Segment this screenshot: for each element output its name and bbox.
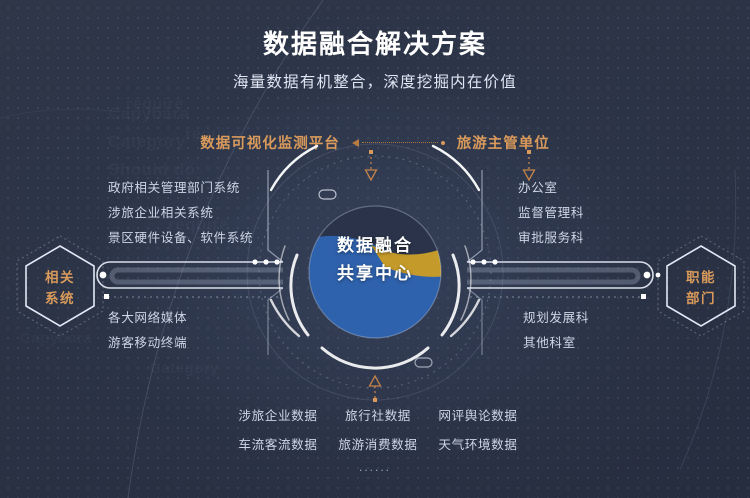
center-node-label: 数据融合 共享中心 bbox=[275, 231, 475, 284]
list-item[interactable]: 旅行社数据 bbox=[328, 404, 428, 428]
hexagon-related-systems[interactable]: 相关 系统 bbox=[14, 234, 106, 338]
list-item[interactable]: 车流客流数据 bbox=[228, 433, 328, 457]
list-item[interactable]: 审批服务科 bbox=[518, 226, 584, 251]
diagram-canvas: require require Capybara Category Should… bbox=[0, 0, 750, 498]
right-top-department-list: 办公室 监督管理科 审批服务科 bbox=[518, 176, 584, 251]
center-line1: 数据融合 bbox=[275, 231, 475, 256]
center-line2: 共享中心 bbox=[275, 259, 475, 284]
list-item[interactable]: 网评舆论数据 bbox=[428, 404, 528, 428]
hexagon-right-line1: 职能 bbox=[686, 266, 716, 286]
hexagon-right-label: 职能 部门 bbox=[655, 234, 747, 338]
right-bottom-department-list: 规划发展科 其他科室 bbox=[523, 306, 589, 356]
list-item[interactable]: 办公室 bbox=[518, 176, 584, 201]
hexagon-left-label: 相关 系统 bbox=[14, 234, 106, 338]
list-item[interactable]: 涉旅企业相关系统 bbox=[108, 201, 253, 226]
list-item[interactable]: 各大网络媒体 bbox=[108, 306, 187, 331]
list-item[interactable]: 游客移动终端 bbox=[108, 331, 187, 356]
list-item[interactable]: 天气环境数据 bbox=[428, 433, 528, 457]
hexagon-right-line2: 部门 bbox=[686, 287, 716, 307]
hexagon-left-line1: 相关 bbox=[45, 266, 75, 286]
bottom-ellipsis: ...... bbox=[0, 460, 750, 474]
list-item[interactable]: 其他科室 bbox=[523, 331, 589, 356]
center-node-data-fusion[interactable]: 数据融合 共享中心 bbox=[275, 165, 475, 380]
list-item[interactable]: 规划发展科 bbox=[523, 306, 589, 331]
list-item[interactable]: 监督管理科 bbox=[518, 201, 584, 226]
list-item[interactable]: 政府相关管理部门系统 bbox=[108, 176, 253, 201]
left-top-source-list: 政府相关管理部门系统 涉旅企业相关系统 景区硬件设备、软件系统 bbox=[108, 176, 253, 251]
left-bottom-source-list: 各大网络媒体 游客移动终端 bbox=[108, 306, 187, 356]
hexagon-left-line2: 系统 bbox=[45, 287, 75, 307]
list-item[interactable]: 景区硬件设备、软件系统 bbox=[108, 226, 253, 251]
bottom-data-category-grid: 涉旅企业数据 旅行社数据 网评舆论数据 车流客流数据 旅游消费数据 天气环境数据 bbox=[228, 404, 528, 457]
list-item[interactable]: 涉旅企业数据 bbox=[228, 404, 328, 428]
list-item[interactable]: 旅游消费数据 bbox=[328, 433, 428, 457]
hexagon-functional-departments[interactable]: 职能 部门 bbox=[655, 234, 747, 338]
